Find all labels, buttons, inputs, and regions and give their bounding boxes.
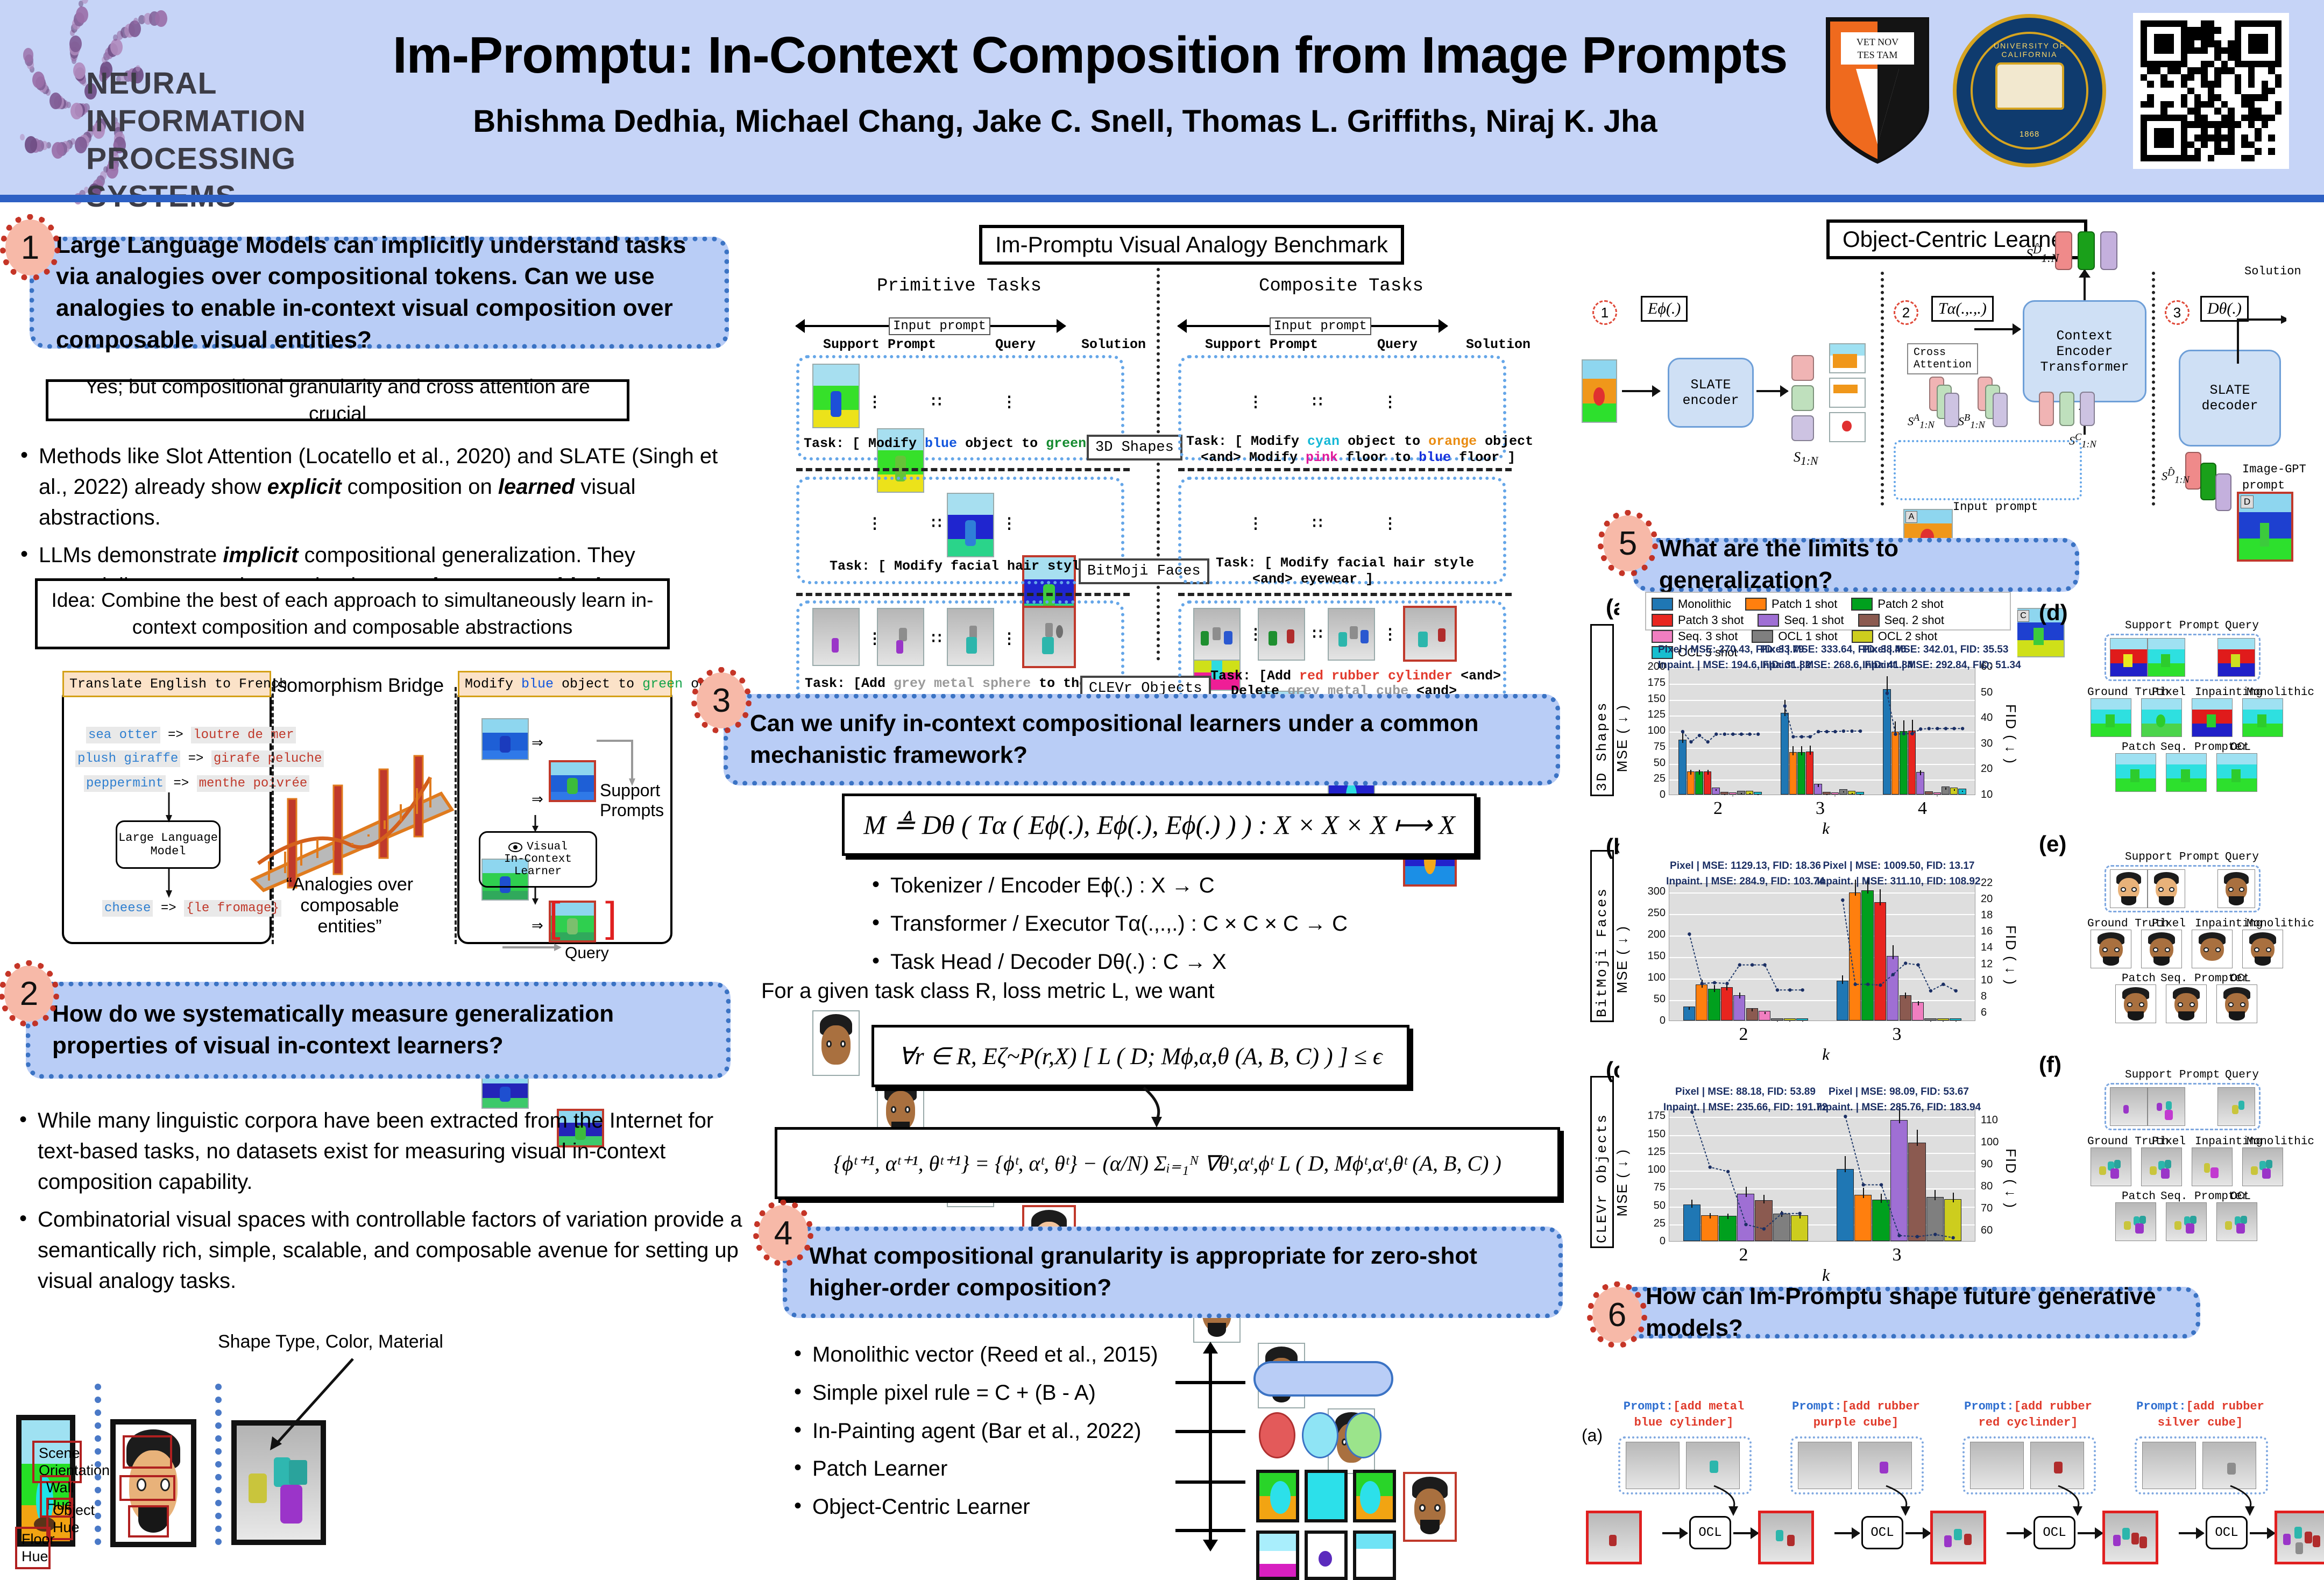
y2-axis-tick: 16 [1981,925,1993,938]
visual-in-context-learner-box: Visual In-ContextLearner [479,831,597,888]
benchmark-figure: Primitive Tasks Composite Tasks Input pr… [785,225,1555,661]
solution-label: Solution [1081,337,1146,352]
y-axis-label: MSE ( ↓ ) [1614,1149,1631,1216]
prompt-image [1686,1442,1740,1489]
dataset-badge-3dshapes: 3D Shapes [1087,435,1182,460]
result-image [2242,1147,2283,1186]
legend-swatch [1752,630,1773,643]
chart-bitmoji: 05010015020025030068101214161820222Pixel… [1619,834,2017,1049]
list-item: Monolithic vector (Reed et al., 2015) [791,1340,1264,1370]
ocl-module: OCL [1689,1516,1731,1549]
list-item: Transformer / Executor Tα(.,.,.) : C × C… [869,909,1504,939]
task-label-composite-2: Task: [ Modify facial hair style [1216,555,1474,571]
flow-arrow-up [2084,270,2086,300]
legend-item: Patch 1 shot [1745,597,1837,611]
section-badge-3: 3 [697,672,746,728]
ocl-input-prompt-label: Input prompt [1953,500,2038,514]
neurips-line1: NEURAL INFORMATION [86,65,387,140]
prompt-image [2217,1087,2255,1126]
decoder-slot-2 [2200,463,2216,500]
group-annotation: Pixel | MSE: 342.01, FID: 35.53Inpaint. … [1862,642,1986,673]
list-item: Patch Learner [791,1454,1264,1484]
side-label-bitmoji: BitMoji Faces [1590,850,1614,1022]
fid-line [1669,668,1976,796]
legend-swatch [1652,630,1673,643]
benchmark-image [812,608,860,666]
prompt-image [2148,638,2185,677]
y-axis-tick: 50 [1643,993,1666,1005]
golden-gate-bridge-illustration [237,729,463,896]
result-image [2141,1147,2182,1186]
x-axis-tick: 4 [1918,798,1927,819]
image-gpt-prompt-label: Image-GPTprompt [2242,462,2306,493]
slot-attn-map-3 [1829,412,1866,442]
slot-attn-map-1 [1829,343,1866,373]
bullet-list-2: While many linguistic corpora have been … [16,1106,742,1304]
question-box-1: Large Language Models can implicitly und… [30,237,729,349]
executor-symbol: Tα(.,.,.) [1931,296,1994,322]
y-axis-tick: 125 [1643,708,1666,721]
slot-2 [1791,385,1814,411]
author-list: Bhishma Dedhia, Michael Chang, Jake C. S… [393,103,1738,139]
legend-item: Patch 3 shot [1652,613,1744,627]
tag-clevr-factors: Shape Type, Color, Material [218,1331,443,1352]
result-image [2091,698,2131,737]
prompt-image [2110,638,2148,677]
pixel-label: Pixel [2152,686,2186,699]
update-equation: {ϕᵗ⁺¹, αᵗ⁺¹, θᵗ⁺¹} = {ϕᵗ, αᵗ, θᵗ} − (α/N… [833,1151,1501,1176]
query-label: Query [995,337,1036,352]
benchmark-image [812,364,860,428]
prompt-image [2110,1087,2148,1126]
support-scene-a [481,718,529,760]
solution-label: Solution [1466,337,1531,352]
patch-label: Patch [2122,1191,2156,1203]
legend-swatch [1858,614,1880,627]
answer-1-text: Yes; but compositional granularity and c… [58,373,617,427]
svg-text:TES TAM: TES TAM [1858,49,1898,60]
prompt-image [2217,869,2255,908]
y2-axis-tick: 70 [1981,1202,1993,1215]
column-divider [1157,268,1160,661]
y2-axis-tick: 100 [1981,1136,1999,1149]
y2-axis-label: FID ( ↓ ) [2002,925,2019,986]
tag-hair-region [123,1435,172,1469]
list-item: While many linguistic corpora have been … [16,1106,742,1197]
poster-header: NEURAL INFORMATION PROCESSING SYSTEMS Im… [0,0,2324,199]
slot-label-sb: SB1:N [1958,412,1985,431]
patch-label: Patch [2122,741,2156,754]
answer-box-1: Yes; but compositional granularity and c… [46,379,629,421]
bracket-right: ] [605,899,617,934]
header-divider [0,195,2324,202]
patch-glyph-3 [1353,1470,1396,1522]
question-3-text: Can we unify in-context compositional le… [750,708,1534,771]
gridline [1669,796,1975,797]
gridline [1669,1022,1975,1023]
llm-box: Large Language Model [116,820,221,869]
equation-box-update: {ϕᵗ⁺¹, αᵗ⁺¹, θᵗ⁺¹} = {ϕᵗ, αᵗ, θᵗ} − (α/N… [775,1127,1560,1199]
group-annotation: Pixel | MSE: 88.18, FID: 53.89Inpaint. |… [1658,1085,1833,1115]
section-badge-6: 6 [1592,1287,1642,1343]
group-annotation: Pixel | MSE: 1129.13, FID: 18.36Inpaint.… [1658,859,1833,889]
result-image [2216,984,2257,1023]
ocl-module: OCL [1861,1516,1903,1549]
eye-icon [508,842,522,852]
patch-glyph-2 [1305,1470,1348,1522]
question-box-5: What are the limits to generalization? [1633,538,2079,592]
row-divider [1178,593,1512,596]
y2-axis-tick: 50 [1981,686,1993,699]
fid-line [1669,1110,1976,1242]
composite-tasks-header: Composite Tasks [1259,276,1423,296]
legend-label: OCL 2 shot [1878,629,1937,643]
ocl-label: OCL [2230,741,2251,754]
y-axis-tick: 125 [1643,1146,1666,1158]
y-axis-tick: 50 [1643,1200,1666,1212]
y2-axis-label: FID ( ↓ ) [2002,704,2019,764]
y-axis-tick: 200 [1643,929,1666,941]
prompt-label: Prompt:[add rubber red cyclinder] [1958,1399,2098,1430]
cross-attention-label: CrossAttention [1907,343,1978,374]
arrow-glyph: ⇒ [532,734,543,751]
slot-b-3 [1993,393,2008,427]
y2-axis-tick: 30 [1981,738,1993,750]
neurips-logo-text: NEURAL INFORMATION PROCESSING SYSTEMS [86,65,387,215]
axis-tick [1175,1430,1245,1433]
y-axis-tick: 0 [1643,1235,1666,1248]
y2-axis-tick: 6 [1981,1007,1987,1019]
flow-arrow [1622,390,1660,392]
output-slot-3 [2100,231,2117,270]
benchmark-solution [1403,1472,1457,1542]
objective-equation: ∀r ∈ R, Eζ~P(r,X) [ L ( D; Mϕ,α,θ (A, B,… [898,1043,1382,1070]
legend-item: Patch 2 shot [1851,597,1943,611]
y2-axis-tick: 60 [1981,1224,1993,1237]
y2-axis-tick: 110 [1981,1114,1998,1126]
question-4-text: What compositional granularity is approp… [809,1241,1536,1303]
legend-swatch [1652,598,1673,611]
y2-axis-tick: 18 [1981,909,1993,922]
prompt-image [2148,1087,2185,1126]
slot-label-sdhat: SD̂1:N [2162,467,2190,486]
step-badge-3: 3 [2165,300,2190,325]
ocl-solution-image: D [2237,492,2293,562]
gridline [1669,1242,1975,1243]
y-axis-tick: 75 [1643,741,1666,753]
task-label-composite-1: Task: [ Modify cyan object to orange obj… [1186,434,1533,449]
result-image [2091,1147,2131,1186]
legend-label: Seq. 3 shot [1678,629,1738,643]
row-divider [796,593,1130,596]
plot-area [1669,883,1975,1021]
support-solution-a [549,760,596,802]
legend-swatch [1745,598,1767,611]
slot-label-s1n: S1:N [1794,449,1818,468]
result-image [2192,698,2233,737]
plot-area [1669,667,1975,795]
slot-3 [1791,415,1814,441]
ocl-input-prompt-box [1894,440,2082,500]
pixel-label: Pixel [2152,918,2186,930]
flow-arrow [2179,1532,2203,1534]
pipeline-state-image [1758,1511,1814,1564]
y2-axis-tick: 10 [1981,789,1993,801]
input-image [1582,359,1617,423]
x-axis-tick: 3 [1816,798,1825,819]
prompt-image [2110,869,2148,908]
benchmark-image [1258,608,1305,661]
slot-a-3 [1944,393,1959,427]
legend-label: OCL 1 shot [1778,629,1837,643]
section-badge-5: 5 [1603,515,1653,571]
result-image [2242,930,2283,968]
y-axis-tick: 50 [1643,757,1666,769]
section-badge-2: 2 [4,966,54,1022]
ocl-label: OCL [2230,973,2251,985]
slate-encoder-box: SLATE encoder [1668,358,1754,428]
y2-axis-tick: 12 [1981,958,1993,970]
y2-axis-tick: 8 [1981,990,1987,1003]
prompt-image [1858,1442,1912,1489]
slot-label-sd: SD̂1:N [2026,243,2059,265]
seal-bottom-text: 1868 [1973,130,2086,139]
idea-box: Idea: Combine the best of each approach … [35,578,670,649]
legend-swatch [1851,598,1873,611]
monolithic-label: Monolithic [2247,1136,2314,1148]
iso-right-header: Modify blue object to green object [458,671,672,697]
pipeline-state-image [2275,1511,2324,1564]
slot-glyph-green [1345,1412,1381,1458]
benchmark-image [1328,608,1375,661]
panel-letter-e: (e) [2039,831,2066,857]
pixel-glyph-1 [1256,1531,1299,1580]
slot-glyph-red [1259,1412,1295,1458]
output-slot-2 [2078,231,2095,270]
row-divider [1178,468,1512,471]
uc-berkeley-seal-icon: UNIVERSITY OF CALIFORNIA 1868 [1953,14,2106,167]
question-box-6: How can Im-Promptu shape future generati… [1619,1287,2200,1338]
legend-item: Seq. 2 shot [1858,613,1944,627]
y-axis-tick: 100 [1643,725,1666,737]
y-axis-tick: 75 [1643,1181,1666,1194]
prompt-image [1970,1442,2024,1489]
legend-swatch [1852,630,1873,643]
pixel-label: Pixel [2152,1136,2186,1148]
legend-label: Monolithic [1678,597,1731,611]
x-axis-tick: 2 [1739,1024,1748,1045]
axis-tick [1175,1529,1245,1532]
result-image [2141,698,2182,737]
qr-code[interactable] [2133,13,2289,169]
query-label: Query [2225,620,2259,632]
support-prompt-label: Support Prompt [2125,851,2220,863]
stage-divider-1 [1881,272,1884,506]
prompt-image [1626,1442,1680,1489]
y2-axis-label: FID ( ↓ ) [2002,1149,2019,1209]
idea-text: Idea: Combine the best of each approach … [47,587,657,641]
legend-swatch [1758,614,1779,627]
y2-axis-tick: 90 [1981,1158,1993,1171]
slot-c-3 [2080,392,2095,426]
decoder-slot-3 [2215,473,2231,511]
main-equation: M ≜ Dθ ( Tα ( Eϕ(.), Eϕ(.), Eϕ(.) ) ) : … [863,809,1455,840]
flow-arrow [1756,390,1788,392]
chart-clevr: 0255075100125150175607080901001102Pixel … [1619,1060,2017,1270]
result-image [2216,753,2257,792]
row-divider [796,468,1130,471]
column-divider [215,1384,222,1545]
slot-c-2 [2059,392,2074,426]
fid-line [1669,884,1976,1022]
legend-label: Seq. 1 shot [1784,613,1844,627]
y-axis-tick: 175 [1643,677,1666,689]
flow-arrow [2078,1532,2102,1534]
result-image [2115,753,2156,792]
question-1-text: Large Language Models can implicitly und… [56,230,703,356]
slot-c-1 [2039,392,2054,426]
y2-axis-tick: 40 [1981,712,1993,724]
step-badge-1: 1 [1592,300,1617,325]
curved-arrow [2056,1485,2094,1518]
equation-box-main: M ≜ Dθ ( Tα ( Eϕ(.), Eϕ(.), Eϕ(.) ) ) : … [842,793,1477,856]
panel-letter-f: (f) [2039,1052,2061,1078]
section6-pipeline: Prompt:[add metal blue cylinder]OCLPromp… [1609,1377,2324,1539]
legend-item: OCL 2 shot [1852,629,1937,643]
princeton-shield-icon: VET NOV TES TAM [1824,15,1931,166]
y-axis-tick: 25 [1643,773,1666,785]
chart-legend: MonolithicPatch 1 shotPatch 2 shotPatch … [1645,592,2011,630]
y-axis-tick: 150 [1643,693,1666,705]
question-box-3: Can we unify in-context compositional le… [724,694,1560,785]
panel-letter-d: (d) [2039,600,2068,626]
pipeline-state-image [1586,1511,1642,1564]
list-item: Tokenizer / Encoder Eϕ(.) : X → C [869,870,1504,901]
pointer-arrow [253,1356,360,1463]
prompt-image [2142,1442,2196,1489]
flow-arrow [1662,1532,1687,1534]
translation-result: cheese => {le fromage} [102,901,281,916]
seal-top-text: UNIVERSITY OF CALIFORNIA [1973,41,2086,59]
list-item: Task Head / Decoder Dθ(.) : C → X [869,947,1504,977]
granularity-axis [1209,1350,1212,1544]
legend-label: Patch 1 shot [1772,597,1837,611]
benchmark-image [812,1010,860,1076]
side-label-clevr: CLEVr Objects [1590,1076,1614,1248]
y-axis-tick: 100 [1643,1164,1666,1176]
task-label-composite-3: Task: [Add red rubber cylinder <and> [1210,668,1501,684]
legend-label: Seq. 2 shot [1884,613,1944,627]
chart-3dshapes: MonolithicPatch 1 shotPatch 2 shotPatch … [1619,592,2017,823]
question-6-text: How can Im-Promptu shape future generati… [1646,1281,2174,1344]
task-label-composite-1b: <and> Modify pink floor to blue floor ] [1201,450,1515,465]
section-badge-1: 1 [5,219,55,275]
y-axis-tick: 250 [1643,907,1666,919]
y-axis-label: MSE ( ↓ ) [1614,925,1631,993]
pixel-glyph-2 [1305,1531,1348,1580]
legend-label: Patch 2 shot [1877,597,1943,611]
input-prompt-label: Input prompt [889,317,990,335]
monolithic-vector-glyph [1253,1361,1393,1397]
side-label-3dshapes: 3D Shapes [1590,624,1614,796]
flow-arrow [1834,1532,1859,1534]
result-image [2166,984,2207,1023]
prompt-image [2202,1442,2256,1489]
monolithic-label: Monolithic [2247,686,2314,699]
input-prompt-label: Input prompt [1270,317,1371,335]
curved-arrow [1712,1485,1749,1518]
list-item: Combinatorial visual spaces with control… [16,1205,742,1296]
prompt-label: Prompt:[add metal blue cylinder] [1614,1399,1754,1430]
isomorphism-bridge-figure: Isomorphism Bridge Translate English to … [11,659,726,960]
tag-beard-region [128,1505,169,1538]
benchmark-solution [1022,606,1076,668]
result-image [2242,698,2283,737]
arrow-glyph: ⇒ [532,791,543,807]
prompt-image [2030,1442,2084,1489]
prompt-image [2148,869,2185,908]
group-annotation: Pixel | MSE: 98.09, FID: 53.67Inpaint. |… [1811,1085,1986,1115]
support-prompt-label: Support Prompt [2125,620,2220,632]
y-axis-label: MSE ( ↓ ) [1614,704,1631,772]
curved-arrow [1884,1485,1922,1518]
column-divider [95,1384,101,1545]
benchmark-image [947,608,994,666]
flow-arrow [1905,1532,1930,1534]
benchmark-image [877,608,924,666]
y-axis-tick: 100 [1643,972,1666,984]
pipeline-state-image [2102,1511,2158,1564]
legend-label: Patch 3 shot [1678,613,1744,627]
axis-tick [1175,1381,1245,1384]
y2-axis-tick: 20 [1981,763,1993,775]
ocl-label: OCL [2230,1191,2251,1203]
neurips-logo: NEURAL INFORMATION PROCESSING SYSTEMS [16,11,387,188]
x-axis-tick: 2 [1739,1245,1748,1265]
question-box-2: How do we systematically measure general… [26,982,731,1079]
x-axis-tick: 3 [1893,1024,1902,1045]
equation-box-objective: ∀r ∈ R, Eζ~P(r,X) [ L ( D; Mϕ,α,θ (A, B,… [871,1025,1409,1087]
y2-axis-tick: 80 [1981,1180,1993,1193]
support-prompt-label: Support Prompt [1205,337,1318,352]
slot-1 [1791,355,1814,381]
panel-letter-6a: (a) [1582,1426,1603,1446]
slot-attn-map-2 [1829,378,1866,408]
task-label-primitive-2: Task: [ Modify facial hair style ] [830,558,1104,574]
stage-divider-2 [2152,272,2155,506]
y-axis-tick: 150 [1643,950,1666,962]
group-annotation: Pixel | MSE: 1009.50, FID: 13.17Inpaint.… [1811,859,1986,889]
question-5-text: What are the limits to generalization? [1659,533,2053,596]
legend-item: OCL 1 shot [1752,629,1837,643]
result-image [2216,1202,2257,1241]
question-box-4: What compositional granularity is approp… [783,1227,1563,1318]
y-axis-tick: 0 [1643,1015,1666,1027]
legend-item: Seq. 3 shot [1652,629,1738,643]
flow-arrow [2250,1532,2275,1534]
flow-arrow [2007,1532,2031,1534]
solution-label: Solution [2244,265,2301,278]
tag-floor-hue: Floor Hue [15,1527,51,1569]
bracket-left: [ [549,899,561,934]
x-axis-tick: 3 [1893,1245,1902,1265]
list-item: Methods like Slot Attention (Locatello e… [17,441,733,533]
result-image [2115,1202,2156,1241]
benchmark-solution [1403,606,1457,662]
prompt-label: Prompt:[add rubber purple cube] [1786,1399,1926,1430]
neurips-line2: PROCESSING SYSTEMS [86,140,387,215]
pixel-glyph-3 [1353,1531,1396,1580]
